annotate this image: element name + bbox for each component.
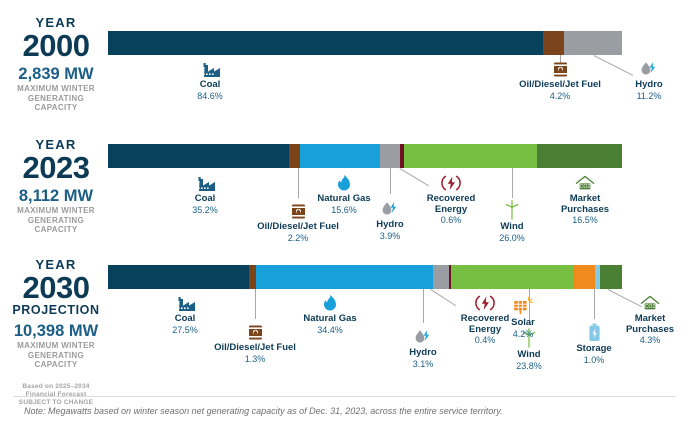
segment-oil-diesel-jet-fuel[interactable] (249, 265, 256, 289)
segment-label-line1: Market (545, 194, 625, 205)
segment-label: Recovered Energy (414, 194, 488, 215)
segment-percent: 11.2% (616, 91, 682, 102)
water-drop-bolt-icon (616, 58, 682, 78)
segment-coal[interactable] (108, 31, 543, 55)
year-value: 2030 (6, 272, 106, 303)
svg-text:CO2: CO2 (580, 184, 591, 190)
capacity-value: 8,112 MW (6, 186, 106, 206)
segment-label: Oil/Diesel/Jet Fuel (500, 80, 620, 91)
segment-label: Natural Gas (280, 314, 380, 325)
segment-oil-diesel-jet-fuel[interactable] (543, 31, 565, 55)
segment-percent: 16.5% (545, 215, 625, 226)
callout-coal-2000: Coal 84.6% (150, 58, 270, 102)
recovered-energy-bolt-icon (414, 172, 488, 192)
year-value: 2023 (6, 152, 106, 183)
year-value: 2000 (6, 30, 106, 61)
capacity-caption-line2: GENERATING CAPACITY (6, 351, 106, 370)
segment-hydro[interactable] (380, 144, 400, 168)
segment-label: Hydro (390, 348, 456, 359)
footer-note: Note: Megawatts based on winter season n… (24, 405, 664, 417)
year-block-2023: YEAR 2023 8,112 MW MAXIMUM WINTER GENERA… (6, 138, 106, 235)
segment-label: Oil/Diesel/Jet Fuel (238, 222, 358, 233)
segment-label-line1: Market (613, 314, 687, 325)
segment-label: Wind (479, 222, 545, 233)
market-purchases-co2-icon: CO2 (545, 172, 625, 192)
segment-percent: 4.2% (500, 91, 620, 102)
forecast-note-line2: Financial Forecast (6, 391, 106, 399)
segment-natural-gas[interactable] (300, 144, 380, 168)
leader-line-oil-2030 (255, 289, 256, 319)
callout-recovered-energy-2023: Recovered Energy 0.6% (414, 172, 488, 226)
segment-percent: 34.4% (280, 325, 380, 336)
segment-natural-gas[interactable] (256, 265, 433, 289)
segment-wind[interactable] (451, 265, 573, 289)
capacity-caption-line1: MAXIMUM WINTER (6, 341, 106, 351)
footer-divider (14, 396, 676, 397)
factory-icon (150, 58, 270, 78)
segment-hydro[interactable] (564, 31, 622, 55)
water-drop-bolt-icon (390, 326, 456, 346)
callout-hydro-2000: Hydro 11.2% (616, 58, 682, 102)
segment-percent: 1.0% (561, 355, 627, 366)
segment-hydro[interactable] (433, 265, 449, 289)
flame-icon (280, 292, 380, 312)
callout-market-purchases-2030: CO2 Market Purchases 4.3% (613, 292, 687, 346)
factory-icon (135, 292, 235, 312)
segment-label-line2: Purchases (545, 205, 625, 216)
segment-market-purchases[interactable] (600, 265, 622, 289)
callout-wind-2023: Wind 26.0% (479, 200, 545, 244)
callout-hydro-2030: Hydro 3.1% (390, 326, 456, 370)
segment-percent: 4.3% (613, 335, 687, 346)
segment-label: Coal (150, 80, 270, 91)
market-purchases-co2-icon: CO2 (613, 292, 687, 312)
stacked-bar-2030 (108, 265, 622, 289)
segment-market-purchases[interactable] (537, 144, 622, 168)
segment-label: Oil/Diesel/Jet Fuel (195, 343, 315, 354)
segment-percent: 84.6% (150, 91, 270, 102)
segment-percent: 4.2% (490, 329, 556, 340)
callout-oil-2000: Oil/Diesel/Jet Fuel 4.2% (500, 58, 620, 102)
svg-text:CO2: CO2 (645, 304, 656, 310)
segment-coal[interactable] (108, 265, 249, 289)
segment-coal[interactable] (108, 144, 289, 168)
segment-oil-diesel-jet-fuel[interactable] (289, 144, 300, 168)
segment-label: Wind (496, 350, 562, 361)
stacked-bar-2000 (108, 31, 622, 55)
year-block-2030: YEAR 2030 PROJECTION 10,398 MW MAXIMUM W… (6, 258, 106, 407)
segment-percent: 23.8% (496, 361, 562, 372)
solar-panel-icon (490, 296, 556, 316)
segment-solar[interactable] (573, 265, 595, 289)
segment-percent: 3.9% (357, 231, 423, 242)
leader-line-hydro-2030 (423, 289, 424, 323)
callout-natural-gas-2030: Natural Gas 34.4% (280, 292, 380, 336)
flame-icon (294, 172, 394, 192)
segment-percent: 1.3% (195, 354, 315, 365)
segment-label: Hydro (616, 80, 682, 91)
capacity-value: 2,839 MW (6, 64, 106, 84)
capacity-caption-line1: MAXIMUM WINTER (6, 84, 106, 94)
stacked-bar-2023 (108, 144, 622, 168)
segment-label: Solar (490, 318, 556, 329)
capacity-mix-infographic: YEAR 2000 2,839 MW MAXIMUM WINTER GENERA… (0, 0, 690, 441)
oil-barrel-icon (500, 58, 620, 78)
forecast-note-line1: Based on 2025–2034 (6, 383, 106, 391)
capacity-caption-line2: GENERATING CAPACITY (6, 94, 106, 113)
leader-line-storage-2030 (594, 289, 595, 319)
callout-solar-2030: Solar 4.2% (490, 296, 556, 340)
capacity-caption-line2: GENERATING CAPACITY (6, 216, 106, 235)
projection-label: PROJECTION (6, 303, 106, 318)
segment-percent: 26.0% (479, 233, 545, 244)
segment-percent: 3.1% (390, 359, 456, 370)
capacity-caption-line1: MAXIMUM WINTER (6, 206, 106, 216)
year-block-2000: YEAR 2000 2,839 MW MAXIMUM WINTER GENERA… (6, 16, 106, 113)
callout-market-purchases-2023: CO2 Market Purchases 16.5% (545, 172, 625, 226)
segment-label-line2: Purchases (613, 325, 687, 336)
segment-percent: 0.6% (414, 215, 488, 226)
capacity-value: 10,398 MW (6, 321, 106, 341)
wind-turbine-icon (479, 200, 545, 220)
segment-wind[interactable] (404, 144, 538, 168)
segment-percent: 2.2% (238, 233, 358, 244)
leader-line-wind-2023 (512, 168, 513, 198)
factory-icon (155, 172, 255, 192)
